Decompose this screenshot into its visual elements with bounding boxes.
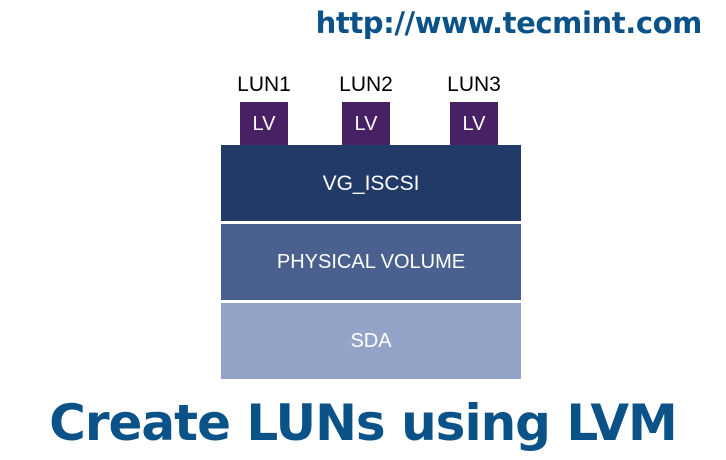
logical-volume-box-2: LV bbox=[342, 102, 390, 146]
logical-volume-label-1: LV bbox=[253, 114, 276, 134]
disk-block: SDA bbox=[221, 303, 521, 379]
logical-volume-label-3: LV bbox=[463, 114, 486, 134]
lun-label-3: LUN3 bbox=[441, 74, 507, 95]
logical-volume-label-2: LV bbox=[355, 114, 378, 134]
lun-label-2: LUN2 bbox=[333, 74, 399, 95]
physical-volume-label: PHYSICAL VOLUME bbox=[277, 252, 465, 272]
lvm-stack-diagram: LUN1 LUN2 LUN3 LV LV LV VG_ISCSI PHYSICA… bbox=[0, 0, 726, 385]
lun-label-1: LUN1 bbox=[231, 74, 297, 95]
physical-volume-block: PHYSICAL VOLUME bbox=[221, 224, 521, 300]
logical-volume-box-1: LV bbox=[240, 102, 288, 146]
volume-group-label: VG_ISCSI bbox=[323, 173, 420, 194]
disk-label: SDA bbox=[350, 331, 391, 351]
volume-group-block: VG_ISCSI bbox=[221, 145, 521, 221]
diagram-caption: Create LUNs using LVM bbox=[0, 385, 726, 460]
logical-volume-box-3: LV bbox=[450, 102, 498, 146]
